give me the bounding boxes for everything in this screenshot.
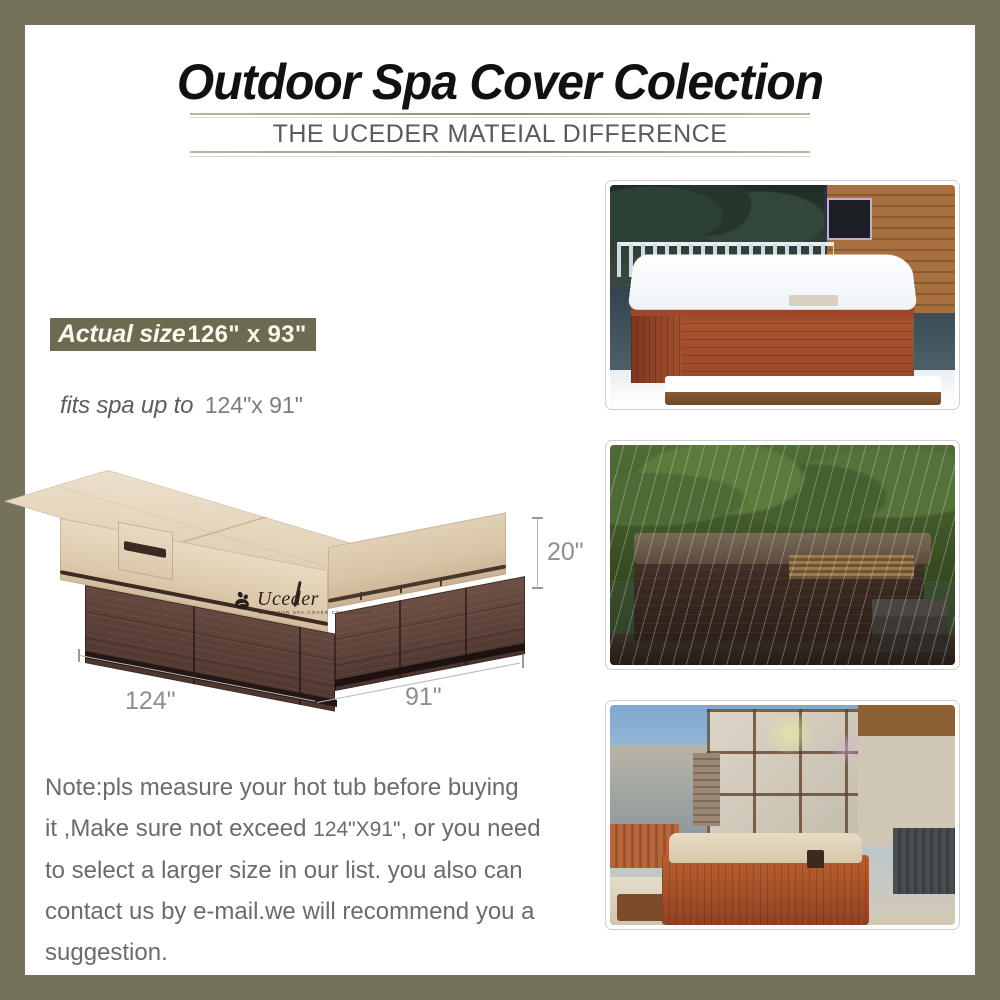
note-line-2-number: 124"X91": [313, 818, 400, 841]
width-dimension-label: 124": [125, 687, 176, 716]
photo1-hot-tub-body: [631, 299, 914, 383]
fits-spa-label: fits spa up to: [60, 392, 193, 419]
spa-cover: Uceder OUTDOOR SPA COVER COLLECTION: [60, 470, 530, 620]
photo1-tub-corner: [631, 316, 682, 383]
note-line-2-a: it ,Make sure not exceed: [45, 815, 313, 842]
note-line-3: to select a larger size in our list. you…: [45, 850, 575, 891]
uceder-logo: Uceder OUTDOOR SPA COVER COLLECTION: [232, 588, 327, 624]
height-dimension-label: 20": [547, 538, 584, 567]
note-line-2: it ,Make sure not exceed 124"X91", or yo…: [45, 808, 575, 850]
fits-spa-line: fits spa up to 124"x 91": [60, 392, 303, 420]
photo-hot-tub-in-rain: [605, 440, 960, 670]
height-dimension-cap-bottom: [532, 587, 543, 589]
photo3-stone-column: [693, 753, 721, 826]
zipper-tooth: [440, 578, 442, 586]
note-line-5: suggestion.: [45, 932, 575, 973]
photo3-cover-strap: [807, 850, 824, 868]
photo1-cover-latch: [789, 295, 837, 306]
photo1-snow-on-cover: [627, 255, 917, 311]
height-dimension-line: [537, 517, 538, 589]
leaf-droplet-icon: [232, 591, 254, 613]
photo1-snowy-bench: [665, 376, 941, 405]
note-line-2-b: , or you need: [400, 815, 540, 842]
page-subtitle: THE UCEDER MATEIAL DIFFERENCE: [25, 120, 975, 149]
photo2-rain-overlay: [610, 445, 955, 665]
photo3-right-structure: [858, 705, 955, 846]
photo-snow-covered-hot-tub: [605, 180, 960, 410]
title-rule-top-faint: [190, 117, 810, 118]
actual-size-value: 126" x 93": [187, 321, 306, 349]
logo-wordmark: Uceder: [257, 588, 319, 611]
height-dimension-cap-top: [532, 517, 543, 519]
width-dimension-cap: [78, 649, 80, 662]
fits-spa-value: 124"x 91": [205, 392, 303, 418]
infographic-canvas: Outdoor Spa Cover Colection THE UCEDER M…: [25, 25, 975, 975]
note-block: Note:pls measure your hot tub before buy…: [45, 767, 575, 973]
photo3-sun-flare: [762, 714, 817, 754]
product-illustration: Uceder OUTDOOR SPA COVER COLLECTION 20" …: [50, 465, 595, 765]
photo1-window: [827, 198, 872, 239]
actual-size-label: Actual size: [58, 320, 185, 349]
logo-tagline: OUTDOOR SPA COVER COLLECTION: [259, 610, 373, 615]
depth-dimension-cap: [522, 655, 524, 668]
photo-hot-tub-in-sunlight: [605, 700, 960, 930]
photo3-tub-texture: [662, 855, 869, 925]
photo3-spa-cover: [669, 833, 862, 864]
note-line-1: Note:pls measure your hot tub before buy…: [45, 767, 575, 808]
zipper-tooth: [400, 585, 402, 593]
actual-size-badge: Actual size 126" x 93": [50, 318, 316, 351]
title-rule-bottom-faint: [190, 156, 810, 157]
page-title: Outdoor Spa Cover Colection: [44, 53, 956, 111]
depth-dimension-label: 91": [405, 683, 442, 712]
photo3-hot-tub-body: [662, 855, 869, 925]
infographic-border: Outdoor Spa Cover Colection THE UCEDER M…: [0, 0, 1000, 1000]
photo3-dark-fence: [893, 828, 955, 894]
zipper-tooth: [360, 592, 362, 600]
title-rule-bottom: [190, 151, 810, 153]
title-rule-top: [190, 113, 810, 115]
note-line-4: contact us by e-mail.we will recommend y…: [45, 891, 575, 932]
